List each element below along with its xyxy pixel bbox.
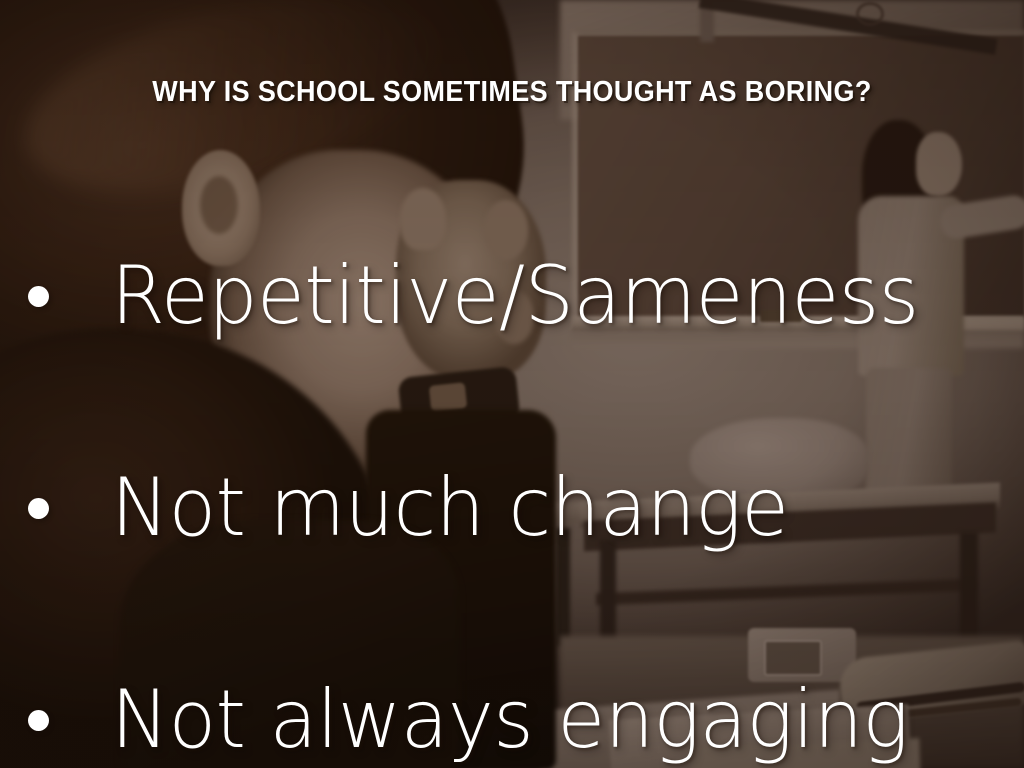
slide-content: WHY IS SCHOOL SOMETIMES THOUGHT AS BORIN… xyxy=(0,0,1024,768)
bullet-text: Not always engaging xyxy=(111,680,908,760)
bullet-dot-icon xyxy=(28,286,49,307)
slide-title: WHY IS SCHOOL SOMETIMES THOUGHT AS BORIN… xyxy=(36,76,988,109)
bullet-text: Not much change xyxy=(111,468,789,548)
bullet-text: Repetitive/Sameness xyxy=(111,256,919,336)
bullet-list: Repetitive/Sameness Not much change Not … xyxy=(0,190,1024,768)
presentation-slide: WHY IS SCHOOL SOMETIMES THOUGHT AS BORIN… xyxy=(0,0,1024,768)
list-item: Not much change xyxy=(0,402,1024,614)
list-item: Not always engaging xyxy=(0,614,1024,768)
bullet-dot-icon xyxy=(28,498,49,519)
bullet-dot-icon xyxy=(28,710,49,731)
list-item: Repetitive/Sameness xyxy=(0,190,1024,402)
